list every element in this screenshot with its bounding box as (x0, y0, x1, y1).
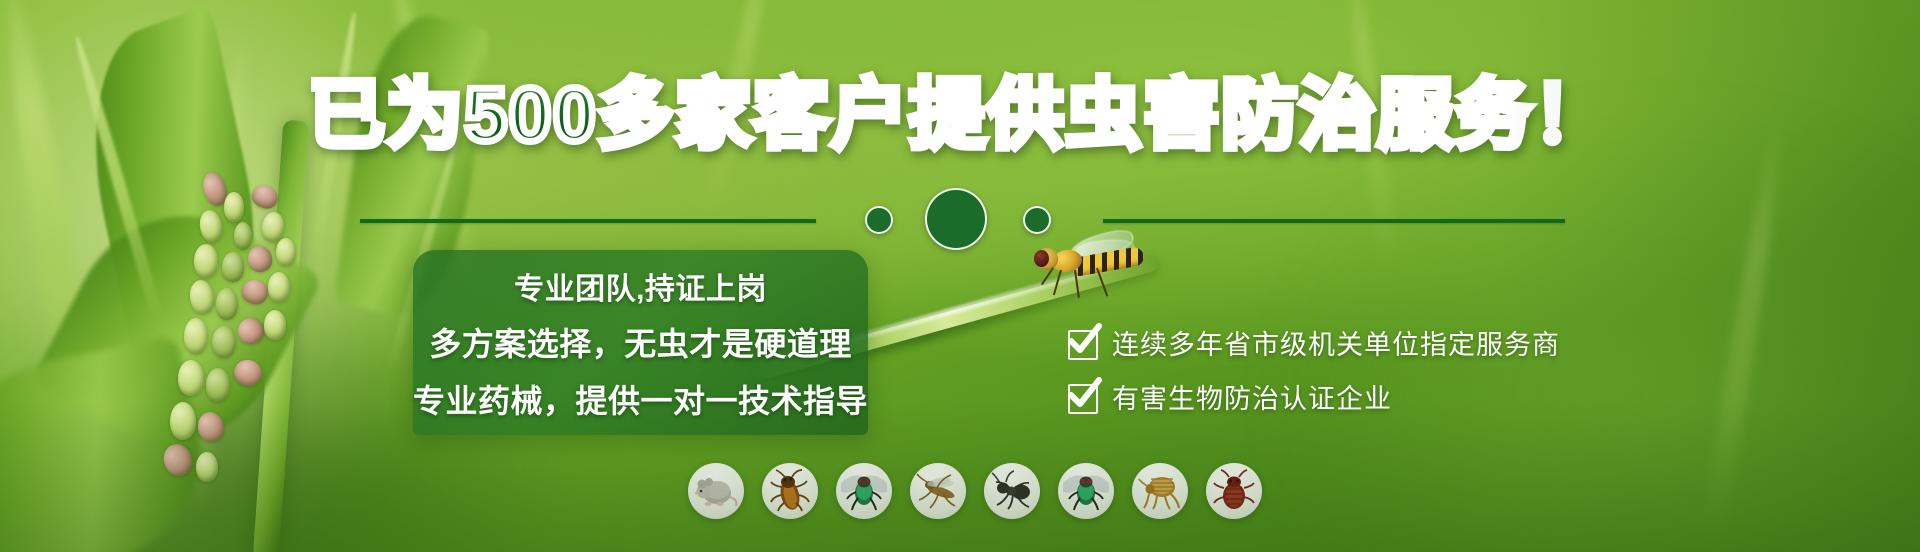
flower-bud (188, 278, 216, 315)
checkbox-checked-icon (1068, 384, 1098, 414)
flower-bud (195, 410, 227, 445)
flower-bud (194, 244, 218, 278)
flower-bud (264, 310, 286, 340)
checklist-item-label: 连续多年省市级机关单位指定服务商 (1112, 332, 1560, 359)
hoverfly-eye (1034, 250, 1049, 267)
ant-icon[interactable] (984, 463, 1040, 519)
flower-bud (249, 182, 281, 212)
flower-bud (196, 452, 218, 482)
flower-bud (268, 272, 290, 302)
cockroach-icon[interactable] (762, 463, 818, 519)
flower-bud (178, 360, 204, 396)
checklist-item: 连续多年省市级机关单位指定服务商 (1068, 330, 1560, 360)
flower-bud (212, 326, 236, 358)
flower-bud (245, 243, 275, 274)
divider-dots (865, 188, 1080, 250)
flower-bud (184, 318, 208, 354)
flower-bud (222, 252, 244, 282)
pest-control-banner: 已为500多家客户提供虫害防治服务！ 专业团队,持证上岗 多方案选择，无虫才是硬… (0, 0, 1920, 552)
selling-point-line-1: 专业团队,持证上岗 (514, 264, 767, 308)
flower-bud (224, 192, 244, 222)
hoverfly-leg (1041, 267, 1054, 285)
flower-bud (231, 357, 265, 390)
checklist-item: 有害生物防治认证企业 (1068, 384, 1560, 414)
mouse-icon[interactable] (688, 463, 744, 519)
flower-bud (216, 288, 238, 320)
credentials-checklist: 连续多年省市级机关单位指定服务商 有害生物防治认证企业 (1068, 330, 1560, 414)
flower-bud (206, 368, 230, 402)
flower-bud (197, 208, 224, 243)
hoverfly-leg (1053, 270, 1062, 296)
checkbox-checked-icon (1068, 330, 1098, 360)
divider-rule-left (360, 219, 816, 223)
checklist-item-label: 有害生物防治认证企业 (1112, 386, 1392, 413)
flower-bud (239, 277, 271, 308)
divider-rule-right (1103, 219, 1565, 223)
fly-icon[interactable] (1058, 463, 1114, 519)
mosquito-icon[interactable] (910, 463, 966, 519)
selling-point-line-2: 多方案选择，无虫才是硬道理 (429, 319, 852, 365)
flower-spike (190, 168, 400, 498)
flower-bud (276, 238, 296, 266)
small-dot-icon (865, 206, 893, 234)
selling-point-line-3: 专业药械，提供一对一技术指导 (413, 376, 868, 422)
selling-points-panel: 专业团队,持证上岗 多方案选择，无虫才是硬道理 专业药械，提供一对一技术指导 (413, 250, 868, 435)
flower-bud (170, 402, 196, 440)
flea-icon[interactable] (1132, 463, 1188, 519)
flower-bud (234, 314, 267, 347)
bedbug-icon[interactable] (1206, 463, 1262, 519)
flower-bud (234, 222, 252, 250)
fly-icon[interactable] (836, 463, 892, 519)
small-dot-icon (1023, 206, 1051, 234)
pest-type-icon-row (688, 463, 1262, 519)
large-dot-icon (925, 188, 987, 250)
